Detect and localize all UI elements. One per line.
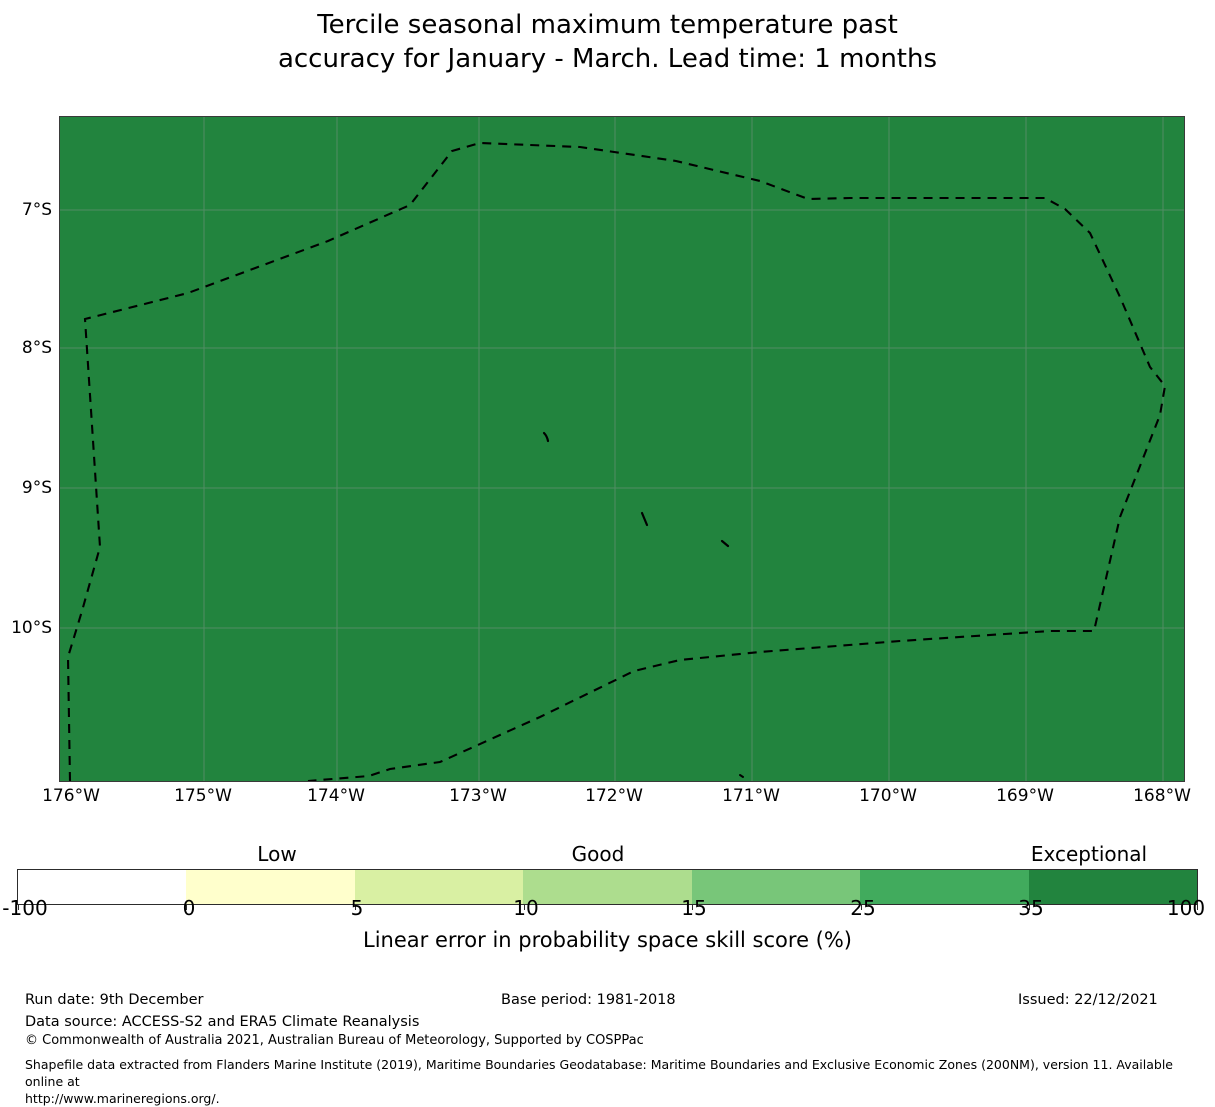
colorbar-tick-label-35: 35 [1018,898,1043,918]
island-nukunonu [642,513,647,525]
island-fakaofo [722,541,728,546]
xtick-label-171w: 171°W [722,788,780,805]
footer-issued-date: Issued: 22/12/2021 [1018,991,1158,1009]
xtick-label-170w: 170°W [859,788,917,805]
xtick-label-176w: 176°W [42,788,100,805]
colorbar-category-good: Good [572,844,625,864]
xtick-label-168w: 168°W [1133,788,1191,805]
footer-data-source: Data source: ACCESS-S2 and ERA5 Climate … [25,1013,419,1031]
island-atafu [544,433,548,441]
ytick-label-10s: 10°S [11,620,52,637]
map-canvas [60,117,1184,781]
footer-run-date: Run date: 9th December [25,991,204,1009]
xtick-label-169w: 169°W [996,788,1054,805]
eez-boundary [68,143,1165,781]
colorbar-tick-label-15: 15 [681,898,706,918]
xtick-label-174w: 174°W [307,788,365,805]
colorbar-tick-label-100: 100 [1167,898,1205,918]
ytick-label-9s: 9°S [22,480,52,497]
xtick-label-172w: 172°W [585,788,643,805]
colorbar-segment-3 [523,870,691,904]
colorbar-segment-5 [860,870,1028,904]
colorbar-category-low: Low [257,844,296,864]
colorbar-segment-4 [692,870,860,904]
footer-shapefile-attribution: Shapefile data extracted from Flanders M… [25,1056,1200,1107]
map-plot-area [59,116,1185,782]
colorbar-segment-1 [186,870,354,904]
page-title: Tercile seasonal maximum temperature pas… [0,8,1215,76]
xtick-label-173w: 173°W [449,788,507,805]
colorbar-axis-label: Linear error in probability space skill … [0,928,1215,952]
footer-base-period: Base period: 1981-2018 [501,991,676,1009]
colorbar-segment-2 [355,870,523,904]
xtick-label-175w: 175°W [174,788,232,805]
island-swains [740,775,743,777]
colorbar-tick-label-10: 10 [513,898,538,918]
map-gridlines [60,117,1184,781]
colorbar-tick-label-0: 0 [183,898,196,918]
colorbar-tick-label-25: 25 [850,898,875,918]
colorbar-tick-label-5: 5 [351,898,364,918]
footer-copyright: © Commonwealth of Australia 2021, Austra… [25,1032,644,1050]
ytick-label-8s: 8°S [22,340,52,357]
ytick-label-7s: 7°S [22,202,52,219]
colorbar-category-exceptional: Exceptional [1031,844,1147,864]
colorbar-tick-label--100: -100 [2,898,47,918]
